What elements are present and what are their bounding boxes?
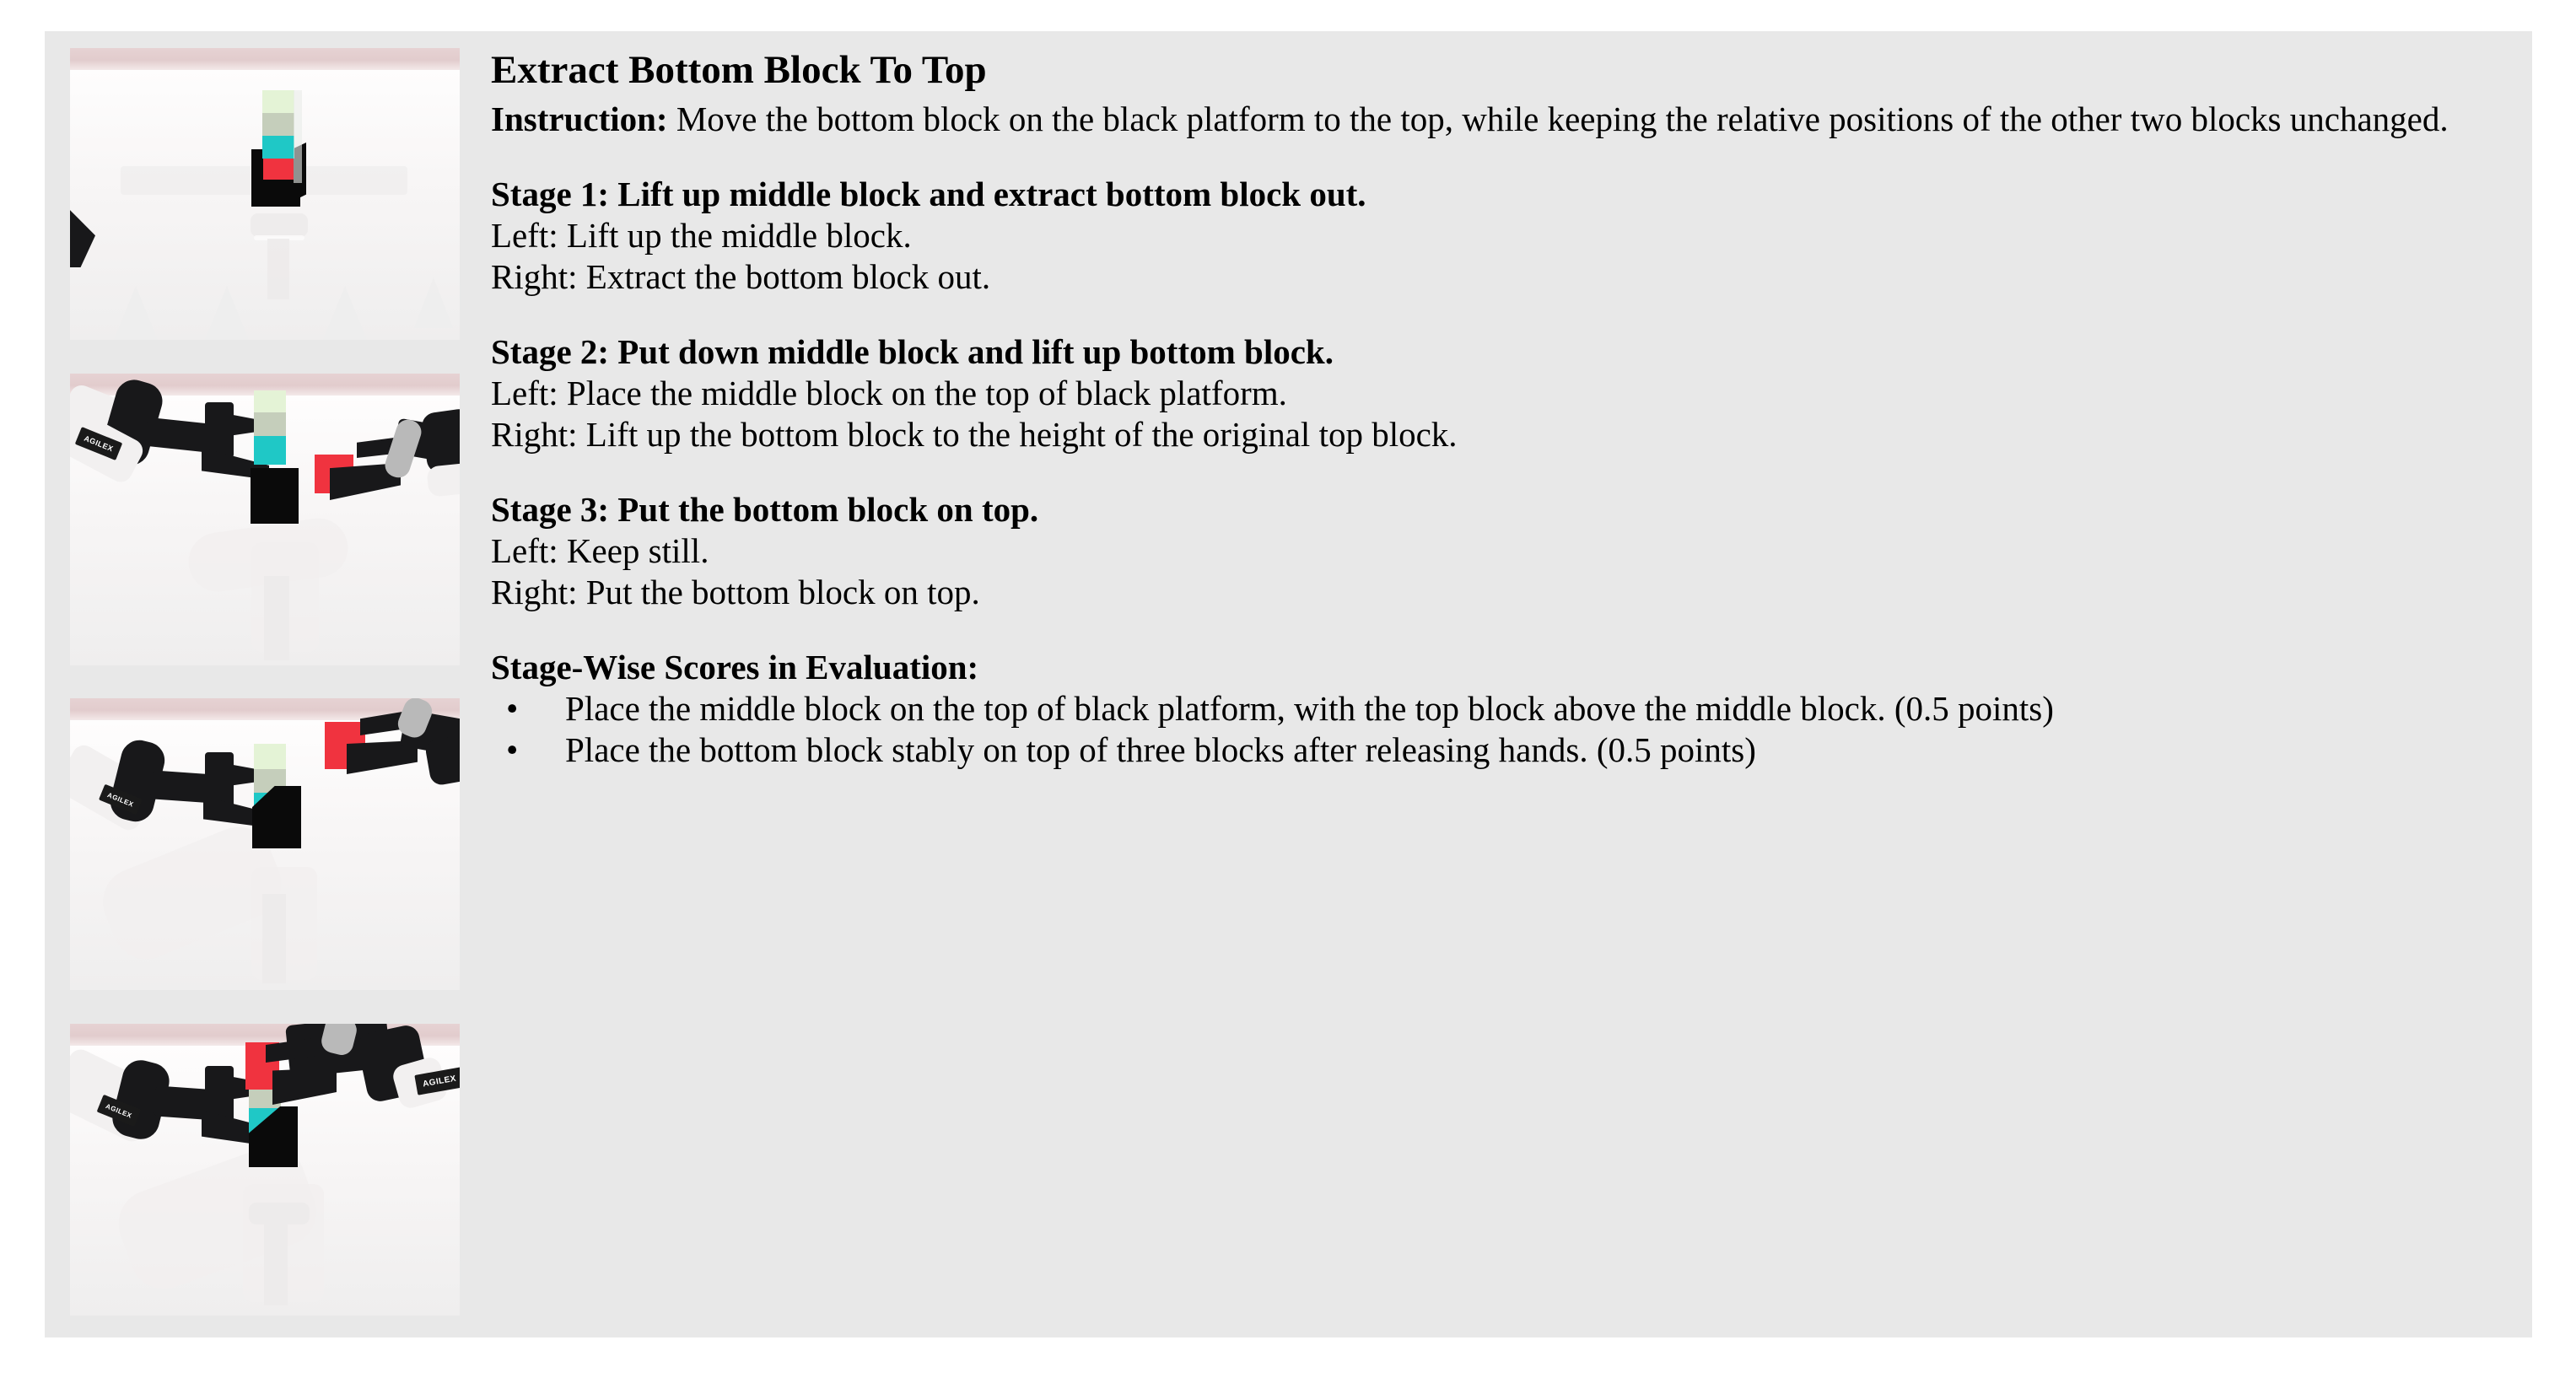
instruction-text: Move the bottom block on the black platf…: [676, 100, 2449, 138]
stage-2-right: Right: Lift up the bottom block to the h…: [491, 414, 2525, 455]
frame-stage-2: AGILEX: [70, 698, 460, 990]
score-item-text: Place the bottom block stably on top of …: [565, 730, 1756, 769]
spacer: [491, 298, 2525, 331]
bullet-icon: •: [506, 688, 518, 729]
middle-cyan-block: [262, 135, 294, 159]
spacer: [491, 140, 2525, 174]
agilex-logo-text-right: AGILEX: [422, 1074, 457, 1089]
agilex-logo-text: AGILEX: [105, 1102, 133, 1120]
stage-1-left: Left: Lift up the middle block.: [491, 215, 2525, 256]
score-item-text: Place the middle block on the top of bla…: [565, 689, 2054, 728]
instruction-text-column: Extract Bottom Block To Top Instruction:…: [491, 31, 2525, 1337]
list-item: • Place the bottom block stably on top o…: [491, 729, 2525, 771]
scores-heading: Stage-Wise Scores in Evaluation:: [491, 647, 2525, 688]
top-mint-block: [254, 390, 286, 412]
tripod-head: [251, 213, 308, 237]
tripod-post: [264, 576, 289, 660]
instruction-body: Instruction: Move the bottom block on th…: [491, 99, 2525, 771]
stage-1-right: Right: Extract the bottom block out.: [491, 256, 2525, 298]
robot-arm-right-cuff: [426, 462, 460, 498]
frame-stage-1: AGILEX: [70, 374, 460, 665]
tripod-post: [262, 894, 286, 983]
stage-3-left: Left: Keep still.: [491, 530, 2525, 572]
frame-sequence-column: AGILEX: [70, 48, 460, 1321]
bottom-red-block: [263, 158, 294, 180]
frame-initial-state: [70, 48, 460, 340]
frame-stage-3-final: AGILEX AGILEX: [70, 1024, 460, 1316]
stage-3-right: Right: Put the bottom block on top.: [491, 572, 2525, 613]
top-mint-block: [254, 744, 286, 769]
list-item: • Place the middle block on the top of b…: [491, 688, 2525, 729]
block-stack-highlight: [294, 90, 302, 183]
top-sage-block: [262, 112, 294, 136]
stage-1-heading: Stage 1: Lift up middle block and extrac…: [491, 174, 2525, 215]
tripod-head: [249, 1203, 310, 1224]
scores-bullet-list: • Place the middle block on the top of b…: [491, 688, 2525, 771]
stage-3-heading: Stage 3: Put the bottom block on top.: [491, 489, 2525, 530]
instruction-label: Instruction:: [491, 100, 668, 138]
top-mint-block: [262, 90, 294, 113]
spacer: [491, 455, 2525, 489]
instruction-spacer: [668, 100, 676, 138]
stage-2-heading: Stage 2: Put down middle block and lift …: [491, 331, 2525, 373]
middle-cyan-block: [254, 436, 286, 465]
spacer: [491, 613, 2525, 647]
instruction-paragraph: Instruction: Move the bottom block on th…: [491, 99, 2525, 140]
top-sage-block: [254, 412, 286, 436]
page-title: Extract Bottom Block To Top: [491, 50, 987, 91]
tripod-post: [267, 239, 289, 299]
black-platform-block: [251, 468, 299, 524]
tripod-post: [264, 1224, 288, 1305]
stage-2-left: Left: Place the middle block on the top …: [491, 373, 2525, 414]
bullet-icon: •: [506, 729, 518, 771]
wall-band: [70, 48, 460, 70]
task-card: AGILEX: [45, 31, 2532, 1337]
